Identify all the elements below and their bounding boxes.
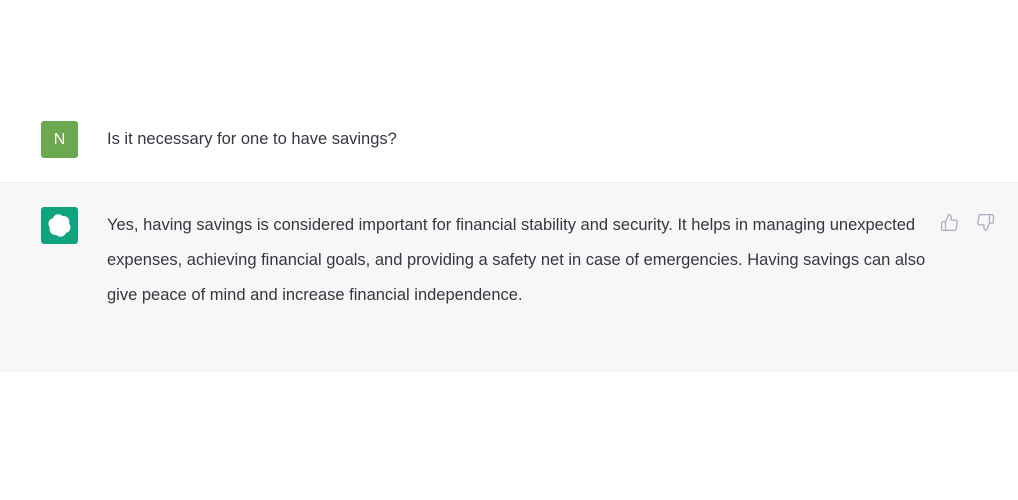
thumbs-up-button[interactable] <box>938 211 960 233</box>
message-row-assistant: Yes, having savings is considered import… <box>0 182 1018 372</box>
avatar-letter: N <box>54 132 66 148</box>
thumbs-down-icon <box>976 213 995 232</box>
user-initial-avatar: N <box>41 121 78 158</box>
message-action-buttons <box>938 211 996 233</box>
chat-conversation: N Is it necessary for one to have saving… <box>0 0 1018 460</box>
user-avatar-cell: N <box>0 121 100 158</box>
message-row-user: N Is it necessary for one to have saving… <box>0 97 1018 182</box>
user-message-content: Is it necessary for one to have savings? <box>100 121 1018 150</box>
assistant-message-content: Yes, having savings is considered import… <box>100 207 1018 313</box>
thumbs-up-icon <box>940 213 959 232</box>
top-spacer <box>0 0 1018 97</box>
assistant-avatar-cell <box>0 207 100 244</box>
assistant-message-text: Yes, having savings is considered import… <box>107 207 927 313</box>
openai-logo-icon <box>41 207 78 244</box>
bottom-spacer <box>0 372 1018 460</box>
user-message-text: Is it necessary for one to have savings? <box>107 121 927 150</box>
thumbs-down-button[interactable] <box>974 211 996 233</box>
